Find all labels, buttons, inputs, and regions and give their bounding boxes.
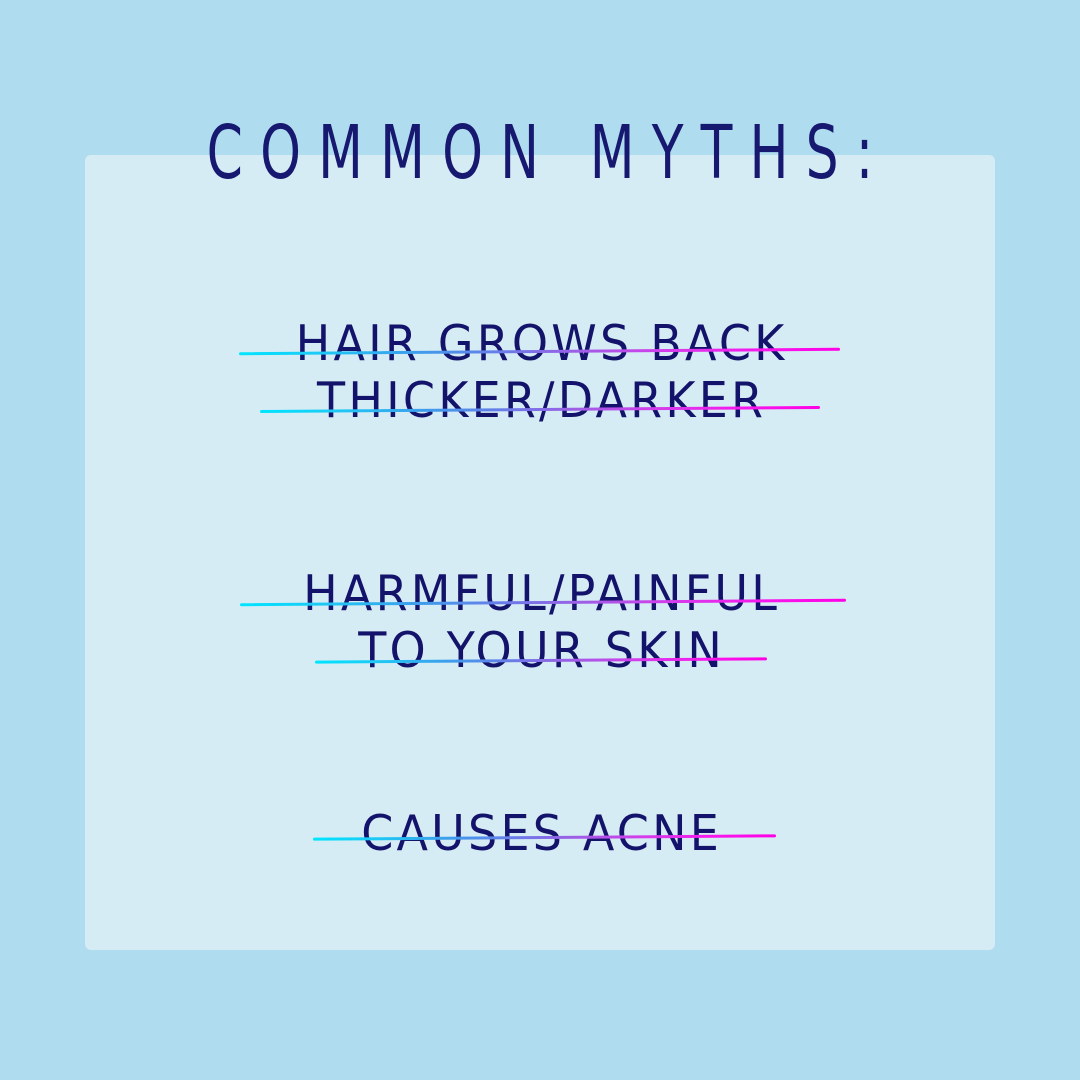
myth-text-line: TO YOUR SKIN bbox=[0, 620, 1080, 680]
poster-canvas: COMMON MYTHS: HAIR GROWS BACK THICKER/DA… bbox=[0, 0, 1080, 1080]
page-title: COMMON MYTHS: bbox=[119, 116, 961, 190]
myth-text-line: CAUSES ACNE bbox=[0, 803, 1080, 863]
myth-text-line: THICKER/DARKER bbox=[0, 370, 1080, 430]
myth-text-line: HARMFUL/PAINFUL bbox=[0, 563, 1080, 623]
myth-item-skin-harm: HARMFUL/PAINFUL TO YOUR SKIN bbox=[0, 565, 1080, 679]
myth-text-line: HAIR GROWS BACK bbox=[0, 313, 1080, 373]
myth-item-acne: CAUSES ACNE bbox=[0, 805, 1080, 862]
myth-item-hair-regrowth: HAIR GROWS BACK THICKER/DARKER bbox=[0, 315, 1080, 429]
